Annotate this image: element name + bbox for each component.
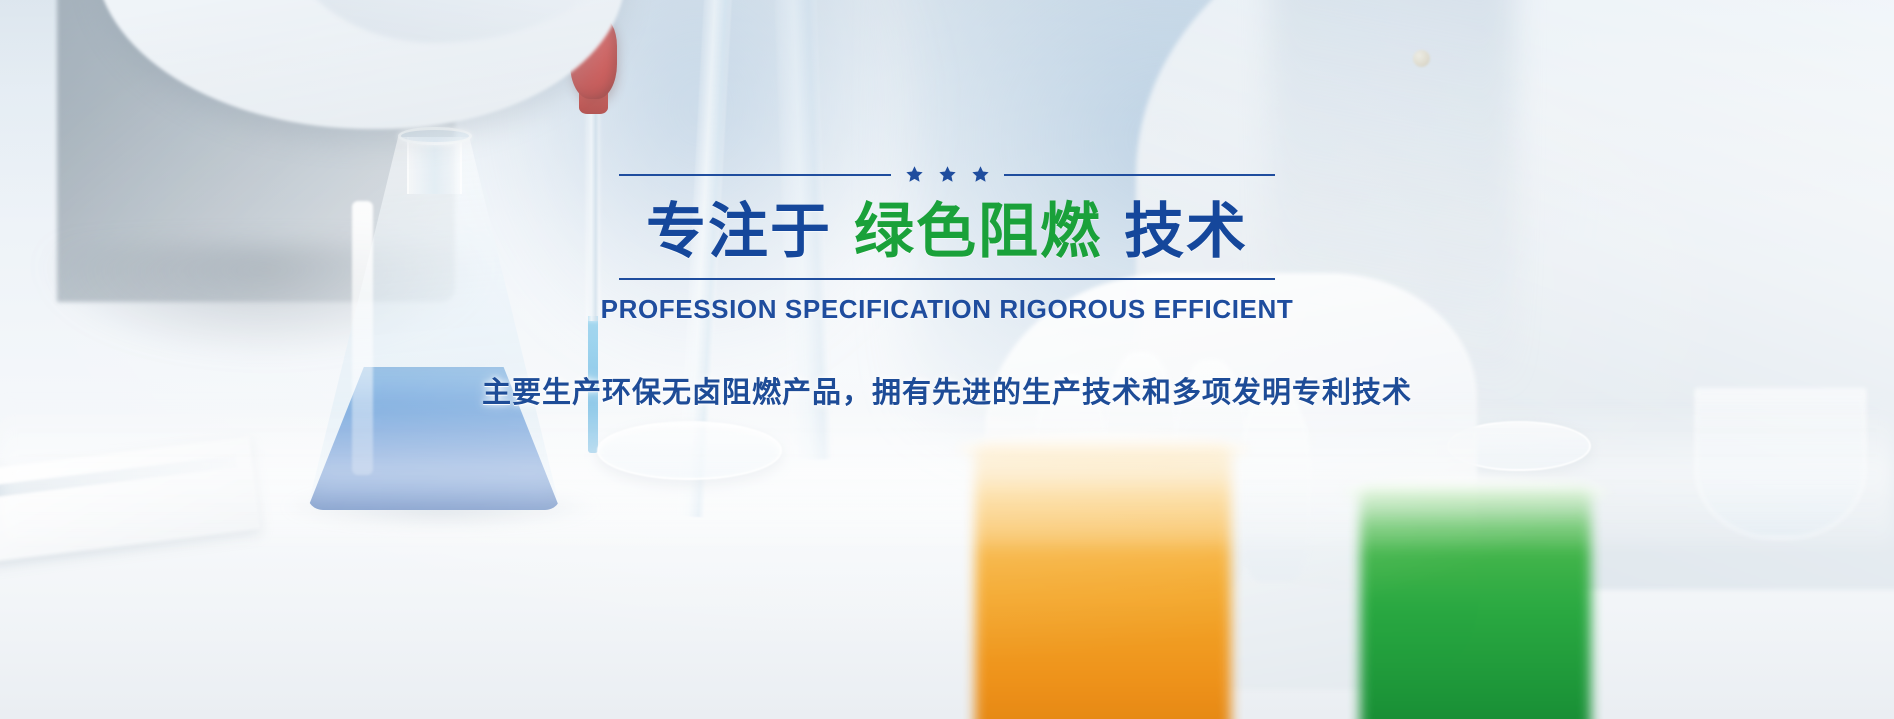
decorative-rule-row: [619, 165, 1275, 184]
hero-banner: 专注于绿色阻燃技术 PROFESSION SPECIFICATION RIGOR…: [0, 0, 1894, 719]
star-icon: [938, 165, 957, 184]
subtitle-english: PROFESSION SPECIFICATION RIGOROUS EFFICI…: [601, 294, 1294, 325]
headline-part-three: 技术: [1124, 198, 1248, 265]
headline-part-one: 专注于: [646, 198, 832, 265]
rule-line-under-title: [619, 278, 1275, 280]
star-group: [905, 165, 990, 184]
star-icon: [971, 165, 990, 184]
headline-part-two: 绿色阻燃: [854, 198, 1102, 265]
tagline-chinese: 主要生产环保无卤阻燃产品，拥有先进的生产技术和多项发明专利技术: [482, 369, 1412, 411]
banner-content: 专注于绿色阻燃技术 PROFESSION SPECIFICATION RIGOR…: [0, 0, 1894, 719]
star-icon: [905, 165, 924, 184]
rule-line-right: [1004, 174, 1276, 176]
rule-line-left: [619, 174, 891, 176]
page-title: 专注于绿色阻燃技术: [646, 200, 1248, 264]
